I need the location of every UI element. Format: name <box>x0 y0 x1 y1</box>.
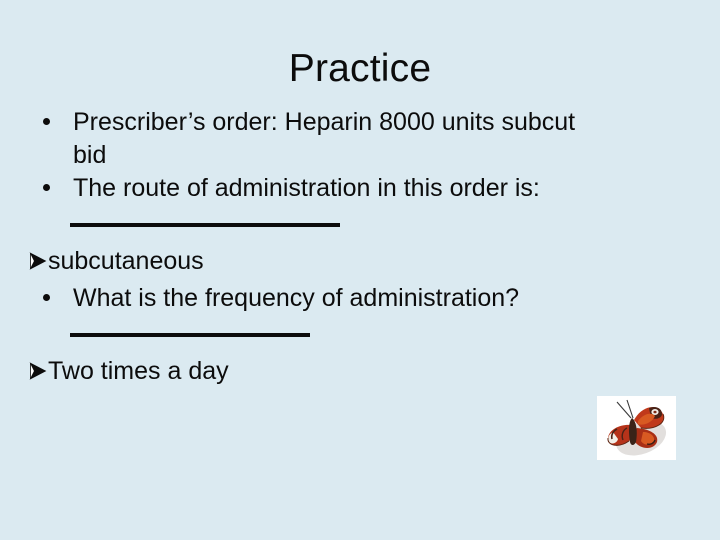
list-item-label: bid <box>73 141 106 169</box>
list-item: The route of administration in this orde… <box>0 172 700 205</box>
slide-canvas: Practice Prescriber’s order: Heparin 800… <box>0 0 720 540</box>
arrow-bullet-icon <box>29 361 47 381</box>
underscore-rule-icon <box>70 223 340 227</box>
list-item: Prescriber’s order: Heparin 8000 units s… <box>0 106 700 139</box>
answer-blank-line <box>0 205 700 245</box>
answer-blank-line <box>0 315 700 355</box>
list-item-label: The route of administration in this orde… <box>73 174 540 202</box>
underscore-rule-icon <box>70 333 310 337</box>
answer-item: Two times a day <box>0 355 700 388</box>
slide-body: Prescriber’s order: Heparin 8000 units s… <box>0 106 700 388</box>
page-title: Practice <box>0 46 720 92</box>
bullet-dot-icon <box>43 184 50 191</box>
answer-label: Two times a day <box>48 357 229 385</box>
list-item: What is the frequency of administration? <box>0 282 700 315</box>
arrow-bullet-icon <box>29 251 47 271</box>
answer-label: subcutaneous <box>48 247 204 275</box>
list-item-label: What is the frequency of administration? <box>73 284 519 312</box>
answer-item: subcutaneous <box>0 245 700 278</box>
list-item-label: Prescriber’s order: Heparin 8000 units s… <box>73 108 575 136</box>
bullet-dot-icon <box>43 294 50 301</box>
bullet-dot-icon <box>43 118 50 125</box>
list-item-continuation: bid <box>0 139 700 172</box>
butterfly-image <box>597 396 676 460</box>
